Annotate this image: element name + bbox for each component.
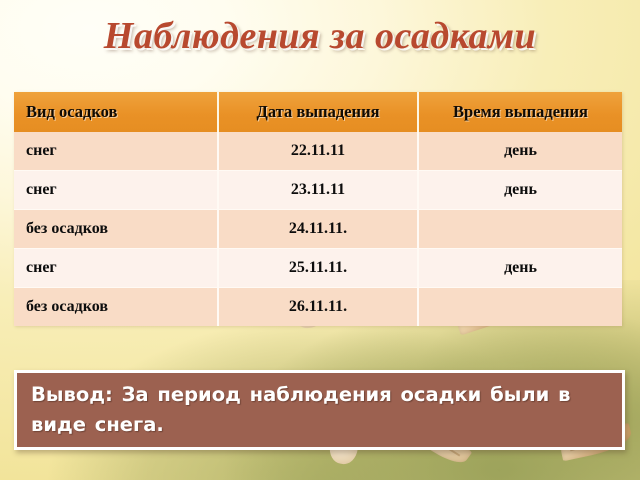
table-row: снег 25.11.11. день — [14, 249, 622, 288]
cell-type: без осадков — [14, 210, 218, 249]
page-title: Наблюдения за осадками — [0, 14, 640, 58]
cell-type: снег — [14, 249, 218, 288]
cell-type: снег — [14, 171, 218, 210]
conclusion-text: Вывод: За период наблюдения осадки были … — [17, 380, 622, 440]
cell-date: 26.11.11. — [218, 288, 418, 327]
table-row: снег 22.11.11 день — [14, 132, 622, 171]
cell-time — [418, 288, 622, 327]
cell-date: 25.11.11. — [218, 249, 418, 288]
slide-canvas: Наблюдения за осадками Вид осадков Дата … — [0, 0, 640, 480]
cell-time: день — [418, 171, 622, 210]
table-row: без осадков 26.11.11. — [14, 288, 622, 327]
cell-type: снег — [14, 132, 218, 171]
observations-table: Вид осадков Дата выпадения Время выпаден… — [14, 92, 622, 326]
conclusion-box: Вывод: За период наблюдения осадки были … — [14, 370, 625, 450]
table-row: без осадков 24.11.11. — [14, 210, 622, 249]
cell-type: без осадков — [14, 288, 218, 327]
cell-date: 24.11.11. — [218, 210, 418, 249]
column-header-date: Дата выпадения — [218, 92, 418, 132]
table-header-row: Вид осадков Дата выпадения Время выпаден… — [14, 92, 622, 132]
column-header-type: Вид осадков — [14, 92, 218, 132]
cell-date: 23.11.11 — [218, 171, 418, 210]
cell-time: день — [418, 249, 622, 288]
column-header-time: Время выпадения — [418, 92, 622, 132]
cell-time: день — [418, 132, 622, 171]
cell-time — [418, 210, 622, 249]
cell-date: 22.11.11 — [218, 132, 418, 171]
table-row: снег 23.11.11 день — [14, 171, 622, 210]
